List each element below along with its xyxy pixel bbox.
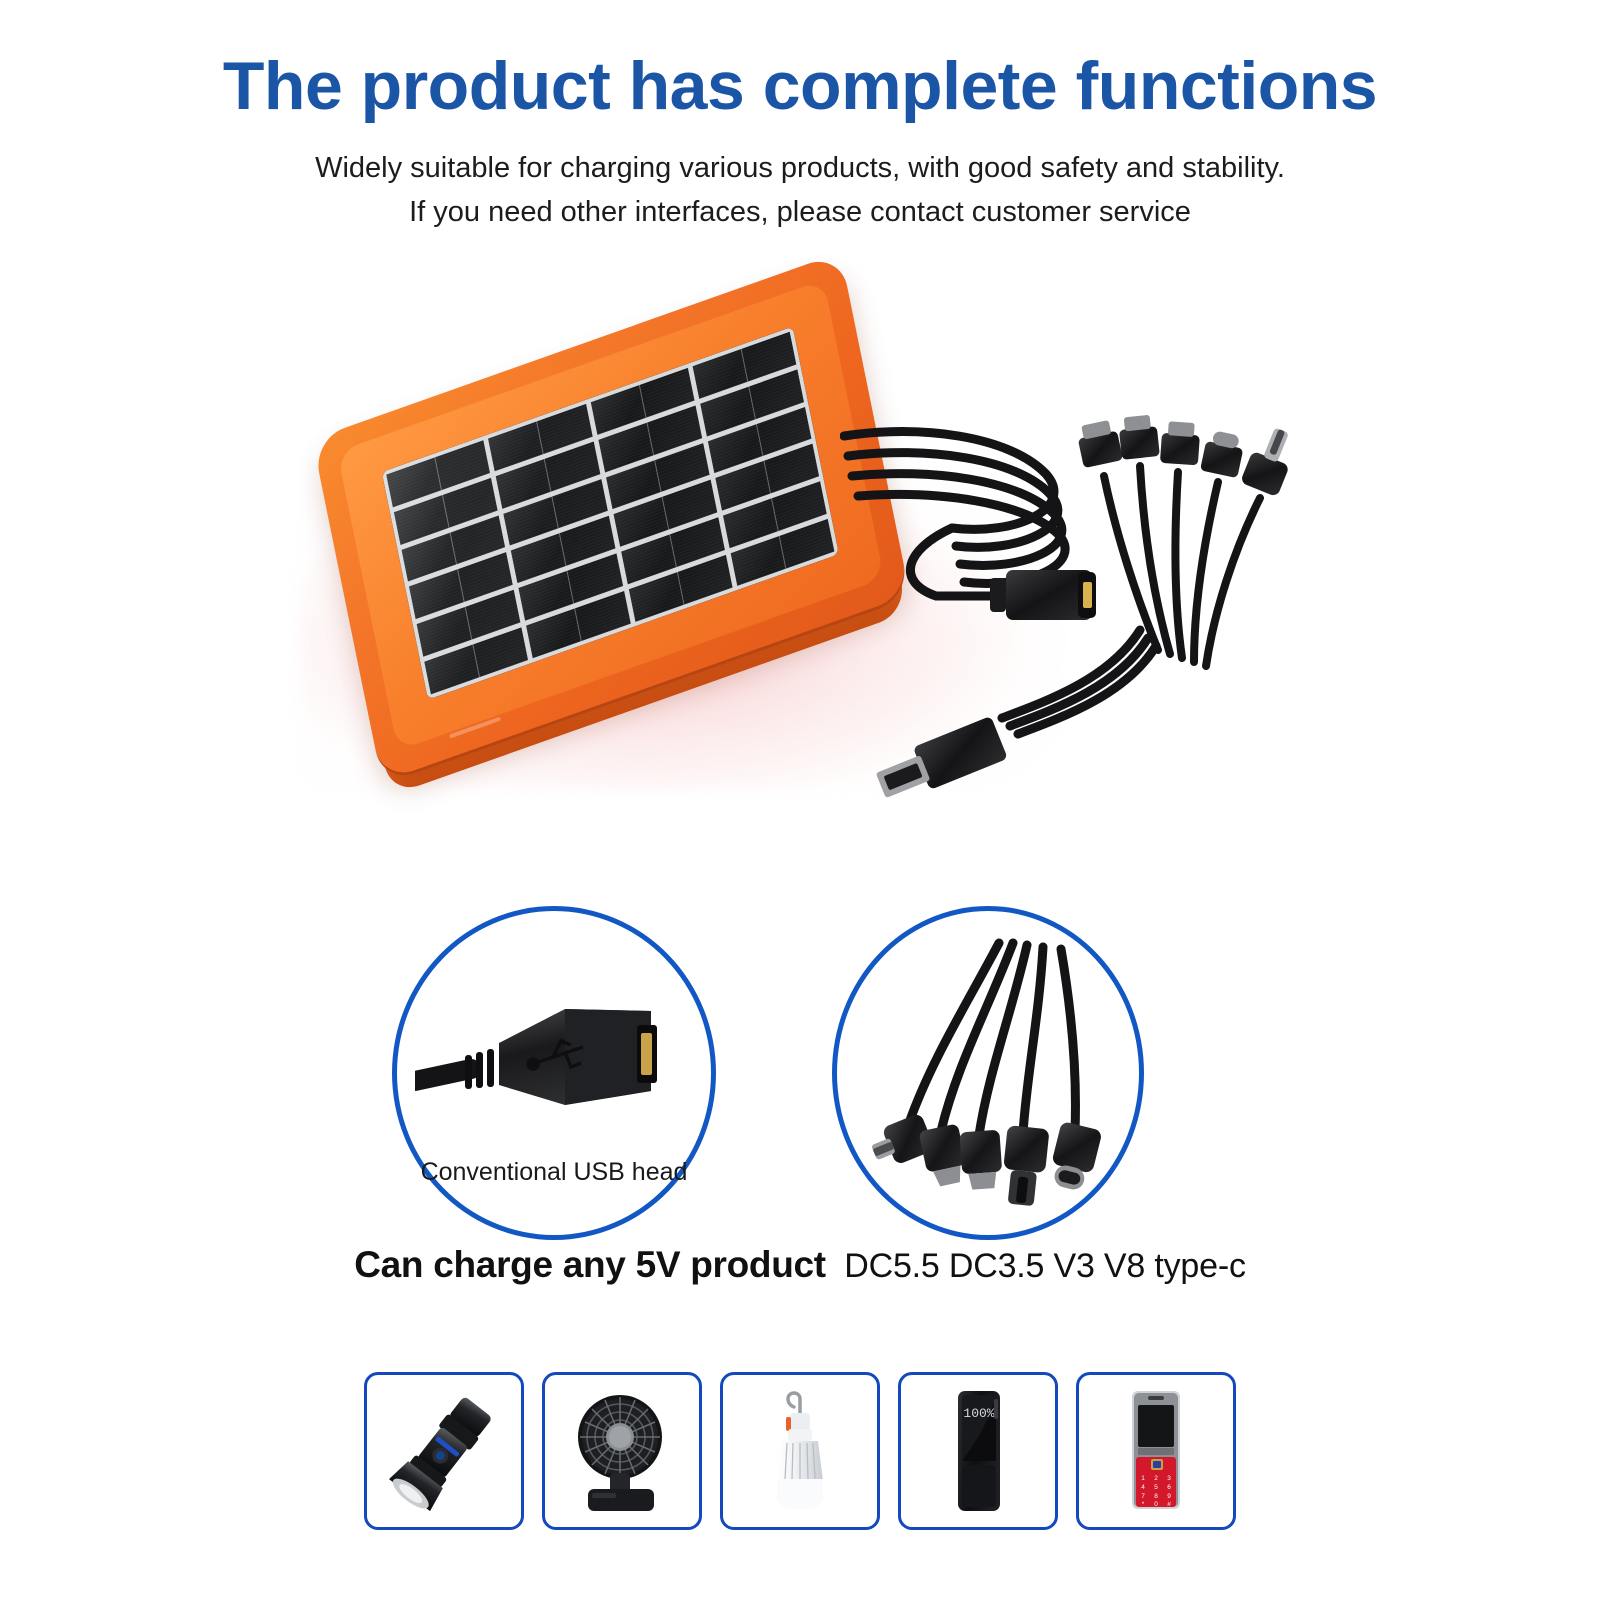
usb-female-socket — [990, 570, 1096, 620]
svg-text:#: # — [1167, 1501, 1171, 1508]
svg-text:0: 0 — [1154, 1501, 1158, 1508]
v8-micro-usb-tip — [959, 1130, 1003, 1191]
svg-text:9: 9 — [1167, 1493, 1171, 1500]
caption-row: Can charge any 5V product DC5.5 DC3.5 V3… — [0, 1244, 1600, 1286]
svg-text:3: 3 — [1167, 1475, 1171, 1482]
svg-text:2: 2 — [1154, 1475, 1158, 1482]
thumbnail-power-bank[interactable]: 100% — [898, 1372, 1058, 1530]
usb-female-connector-icon — [415, 963, 705, 1158]
header: The product has complete functions Widel… — [0, 0, 1600, 234]
caption-can-charge-5v: Can charge any 5V product — [354, 1244, 826, 1285]
led-bulb-icon — [730, 1385, 870, 1517]
page-subtitle: Widely suitable for charging various pro… — [0, 120, 1600, 234]
svg-text:1: 1 — [1141, 1475, 1145, 1482]
panel-photovoltaic-glass — [382, 327, 839, 700]
usb-male-plug — [872, 630, 1156, 806]
power-bank-display: 100% — [963, 1406, 994, 1421]
flashlight-icon — [374, 1385, 514, 1517]
dc55-tip — [1000, 1125, 1050, 1207]
thumbnail-flashlight[interactable] — [364, 1372, 524, 1530]
callout-row: Conventional USB head — [0, 890, 1600, 1250]
thumbnail-phone[interactable]: 123 456 789 *0# — [1076, 1372, 1236, 1530]
svg-text:6: 6 — [1167, 1484, 1171, 1491]
thumbnail-fan[interactable] — [542, 1372, 702, 1530]
fan-icon — [552, 1385, 692, 1517]
panel-cell-grid — [382, 327, 839, 700]
svg-text:5: 5 — [1154, 1484, 1158, 1491]
callout-multi-tip — [832, 906, 1144, 1240]
subtitle-line-1: Widely suitable for charging various pro… — [0, 146, 1600, 190]
svg-text:8: 8 — [1154, 1493, 1158, 1500]
feature-phone-icon: 123 456 789 *0# — [1086, 1385, 1226, 1517]
callout-usb-caption: Conventional USB head — [397, 1158, 711, 1187]
compatible-device-thumbnails: 100% 123 456 789 *0# — [0, 1372, 1600, 1530]
callout-usb-head: Conventional USB head — [392, 906, 716, 1240]
thumbnail-bulb[interactable] — [720, 1372, 880, 1530]
caption-connector-list: DC5.5 DC3.5 V3 V8 type-c — [844, 1247, 1246, 1285]
svg-text:7: 7 — [1141, 1493, 1145, 1500]
svg-text:4: 4 — [1141, 1484, 1145, 1491]
subtitle-line-2: If you need other interfaces, please con… — [0, 190, 1600, 234]
hero-product-photo — [0, 290, 1600, 850]
page-title: The product has complete functions — [0, 0, 1600, 120]
type-c-tip — [1046, 1121, 1102, 1193]
power-bank-icon: 100% — [908, 1385, 1048, 1517]
cable-bundle — [840, 400, 1300, 820]
five-tip-connector-icon — [847, 937, 1137, 1242]
